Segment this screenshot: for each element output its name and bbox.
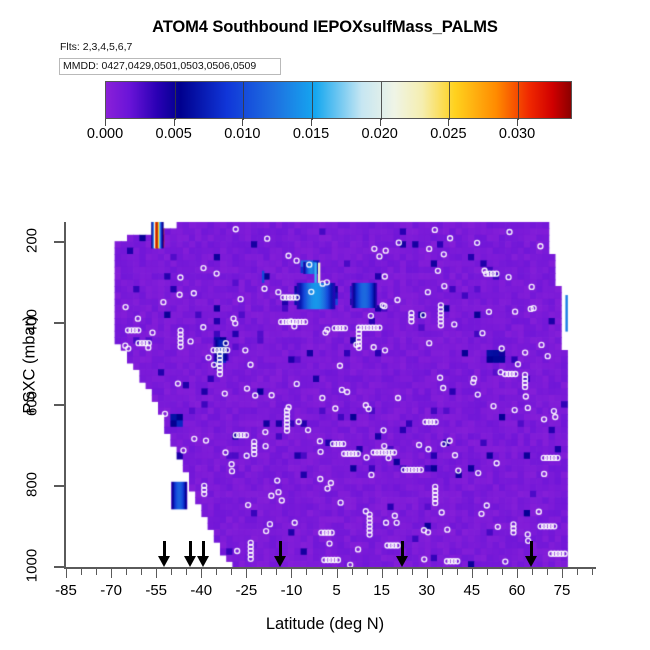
arrow-head bbox=[158, 556, 170, 567]
x-axis-minor-tick bbox=[276, 569, 277, 575]
y-axis-tick-label: 200 bbox=[24, 221, 41, 261]
x-axis-minor-tick bbox=[532, 569, 533, 575]
y-axis-line bbox=[64, 222, 66, 568]
x-axis-tick-label: -40 bbox=[190, 582, 212, 599]
x-axis-minor-tick bbox=[502, 569, 503, 575]
flight-marker-arrow bbox=[197, 541, 210, 567]
x-axis-minor-tick bbox=[577, 569, 578, 575]
arrow-head bbox=[525, 556, 537, 567]
x-axis-minor-tick bbox=[457, 569, 458, 575]
x-axis-tick-label: 45 bbox=[463, 582, 480, 599]
x-axis-minor-tick bbox=[141, 569, 142, 575]
x-axis-tick bbox=[337, 569, 338, 578]
x-axis-minor-tick bbox=[367, 569, 368, 575]
x-axis-minor-tick bbox=[81, 569, 82, 575]
x-axis-tick-label: 30 bbox=[418, 582, 435, 599]
x-axis-minor-tick bbox=[231, 569, 232, 575]
arrow-head bbox=[274, 556, 286, 567]
x-axis-tick-label: -10 bbox=[281, 582, 303, 599]
x-axis-tick-label: 75 bbox=[554, 582, 571, 599]
x-axis-tick bbox=[156, 569, 157, 578]
x-axis-tick bbox=[472, 569, 473, 578]
x-axis-minor-tick bbox=[412, 569, 413, 575]
y-axis-tick bbox=[54, 404, 65, 406]
x-axis-tick-label: -70 bbox=[100, 582, 122, 599]
y-axis-tick bbox=[54, 485, 65, 487]
heatmap-field bbox=[0, 0, 650, 650]
x-axis-minor-tick bbox=[487, 569, 488, 575]
x-axis-minor-tick bbox=[171, 569, 172, 575]
x-axis-tick bbox=[66, 569, 67, 578]
x-axis-minor-tick bbox=[126, 569, 127, 575]
x-axis-tick-label: -55 bbox=[145, 582, 167, 599]
y-axis-tick-label: 1000 bbox=[24, 546, 41, 586]
y-axis-tick bbox=[54, 322, 65, 324]
flight-marker-arrow bbox=[396, 541, 409, 567]
x-axis-tick-label: 60 bbox=[509, 582, 526, 599]
x-axis-minor-tick bbox=[547, 569, 548, 575]
x-axis-minor-tick bbox=[322, 569, 323, 575]
x-axis-tick bbox=[382, 569, 383, 578]
x-axis-tick bbox=[111, 569, 112, 578]
x-axis-tick bbox=[201, 569, 202, 578]
flight-marker-arrow bbox=[525, 541, 538, 567]
arrow-head bbox=[184, 556, 196, 567]
x-axis-tick-label: -25 bbox=[236, 582, 258, 599]
y-axis-tick bbox=[54, 566, 65, 568]
x-axis-tick bbox=[291, 569, 292, 578]
x-axis-tick bbox=[562, 569, 563, 578]
x-axis-minor-tick bbox=[96, 569, 97, 575]
x-axis-tick-label: 5 bbox=[332, 582, 340, 599]
x-axis-minor-tick bbox=[397, 569, 398, 575]
flight-marker-arrow bbox=[158, 541, 171, 567]
y-axis-tick bbox=[54, 241, 65, 243]
x-axis-tick-label: -85 bbox=[55, 582, 77, 599]
x-axis-minor-tick bbox=[352, 569, 353, 575]
x-axis-minor-tick bbox=[306, 569, 307, 575]
arrow-head bbox=[197, 556, 209, 567]
y-axis-title: PSXC (mbar) bbox=[21, 275, 40, 455]
x-axis-minor-tick bbox=[442, 569, 443, 575]
x-axis-minor-tick bbox=[216, 569, 217, 575]
flight-marker-arrow bbox=[274, 541, 287, 567]
x-axis-tick-label: 15 bbox=[373, 582, 390, 599]
x-axis-minor-tick bbox=[261, 569, 262, 575]
x-axis-tick bbox=[427, 569, 428, 578]
x-axis-minor-tick bbox=[186, 569, 187, 575]
x-axis-tick bbox=[517, 569, 518, 578]
x-axis-tick bbox=[246, 569, 247, 578]
figure-root: ATOM4 Southbound IEPOXsulfMass_PALMS Flt… bbox=[0, 0, 650, 650]
x-axis-minor-tick bbox=[592, 569, 593, 575]
arrow-head bbox=[396, 556, 408, 567]
flight-marker-arrow bbox=[184, 541, 197, 567]
x-axis-title: Latitude (deg N) bbox=[0, 615, 650, 634]
y-axis-tick-label: 800 bbox=[24, 464, 41, 504]
